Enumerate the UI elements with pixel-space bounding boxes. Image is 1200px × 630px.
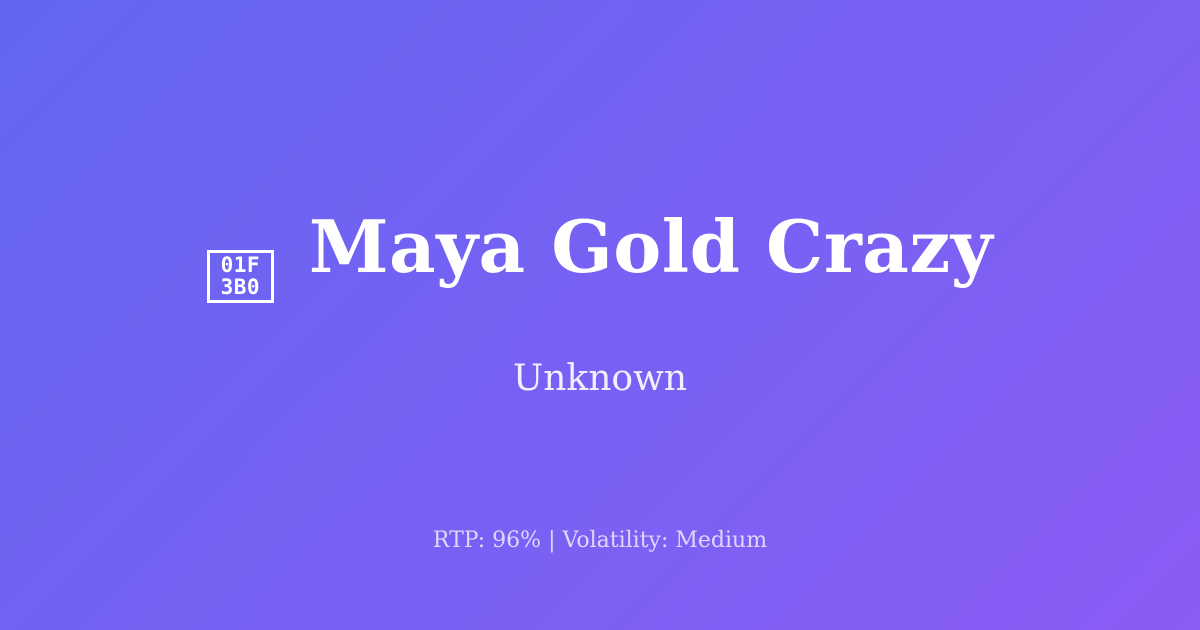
game-preview-card: 01F 3B0 Maya Gold Crazy Unknown RTP: 96%… xyxy=(0,0,1200,630)
title-row: 01F 3B0 Maya Gold Crazy xyxy=(207,211,993,303)
slot-machine-icon-codepoint-high: 01F xyxy=(221,254,260,276)
game-meta-line: RTP: 96% | Volatility: Medium xyxy=(0,530,1200,552)
page-title: Maya Gold Crazy xyxy=(309,211,993,283)
provider-name: Unknown xyxy=(513,361,687,397)
slot-machine-icon: 01F 3B0 xyxy=(207,250,274,303)
slot-machine-icon-codepoint-low: 3B0 xyxy=(221,276,260,298)
